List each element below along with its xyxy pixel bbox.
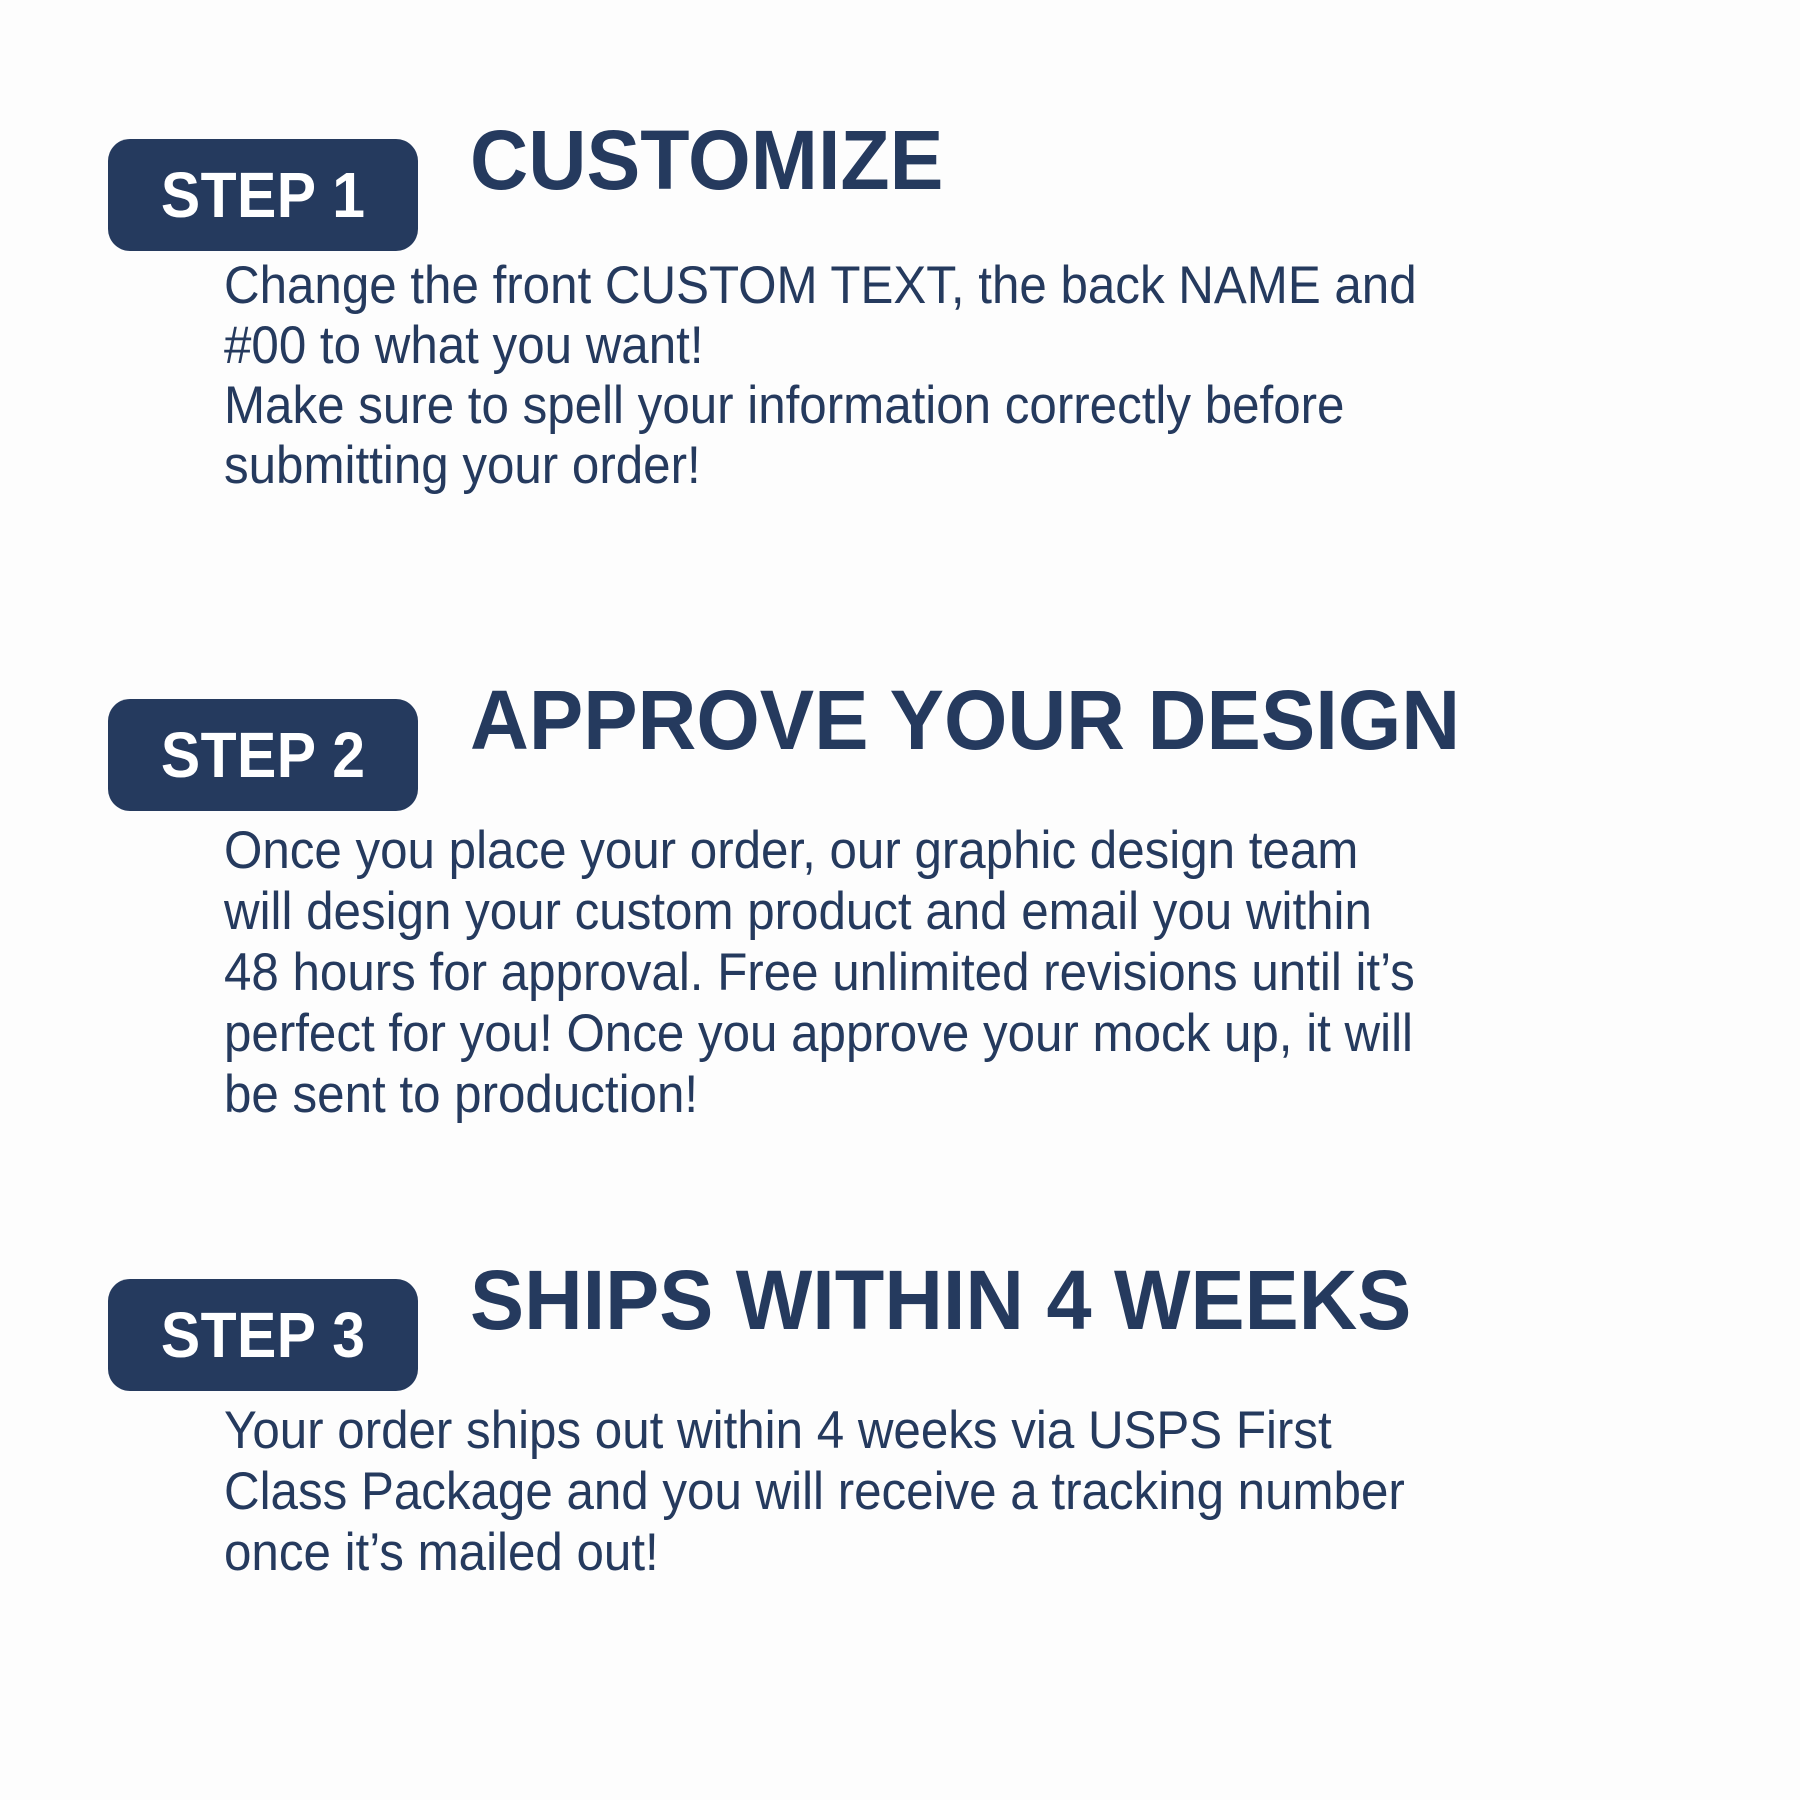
step-title-1: CUSTOMIZE xyxy=(470,118,943,202)
step-body-line: once it’s mailed out! xyxy=(224,1522,1405,1583)
step-body-line: Your order ships out within 4 weeks via … xyxy=(224,1400,1405,1461)
step-body-line: be sent to production! xyxy=(224,1064,1415,1125)
step-body-line: Make sure to spell your information corr… xyxy=(224,376,1417,436)
step-body-line: Change the front CUSTOM TEXT, the back N… xyxy=(224,256,1417,316)
step-body-line: perfect for you! Once you approve your m… xyxy=(224,1003,1415,1064)
step-body-2: Once you place your order, our graphic d… xyxy=(224,820,1415,1125)
step-block-2: STEP 2 APPROVE YOUR DESIGN Once you plac… xyxy=(0,548,1491,832)
step-body-1: Change the front CUSTOM TEXT, the back N… xyxy=(224,256,1417,496)
step-title-3: SHIPS WITHIN 4 WEEKS xyxy=(470,1258,1411,1342)
step-block-3: STEP 3 SHIPS WITHIN 4 WEEKS Your order s… xyxy=(0,1132,1445,1412)
step-body-line: submitting your order! xyxy=(224,436,1417,496)
step-body-line: 48 hours for approval. Free unlimited re… xyxy=(224,942,1415,1003)
step-body-line: Once you place your order, our graphic d… xyxy=(224,820,1415,881)
instructions-page: STEP 1 CUSTOMIZE Change the front CUSTOM… xyxy=(0,0,1800,1800)
step-body-line: #00 to what you want! xyxy=(224,316,1417,376)
step-header-2: STEP 2 APPROVE YOUR DESIGN xyxy=(0,548,1491,832)
step-badge-3: STEP 3 xyxy=(108,1279,418,1391)
step-title-2: APPROVE YOUR DESIGN xyxy=(470,678,1460,762)
step-body-3: Your order ships out within 4 weeks via … xyxy=(224,1400,1405,1583)
step-block-1: STEP 1 CUSTOMIZE Change the front CUSTOM… xyxy=(0,0,963,272)
step-badge-label-1: STEP 1 xyxy=(161,163,366,227)
step-badge-1: STEP 1 xyxy=(108,139,418,251)
step-header-3: STEP 3 SHIPS WITHIN 4 WEEKS xyxy=(0,1132,1445,1412)
step-badge-label-3: STEP 3 xyxy=(161,1303,366,1367)
step-header-1: STEP 1 CUSTOMIZE xyxy=(0,0,963,272)
step-badge-2: STEP 2 xyxy=(108,699,418,811)
step-body-line: will design your custom product and emai… xyxy=(224,881,1415,942)
step-body-line: Class Package and you will receive a tra… xyxy=(224,1461,1405,1522)
step-badge-label-2: STEP 2 xyxy=(161,723,366,787)
